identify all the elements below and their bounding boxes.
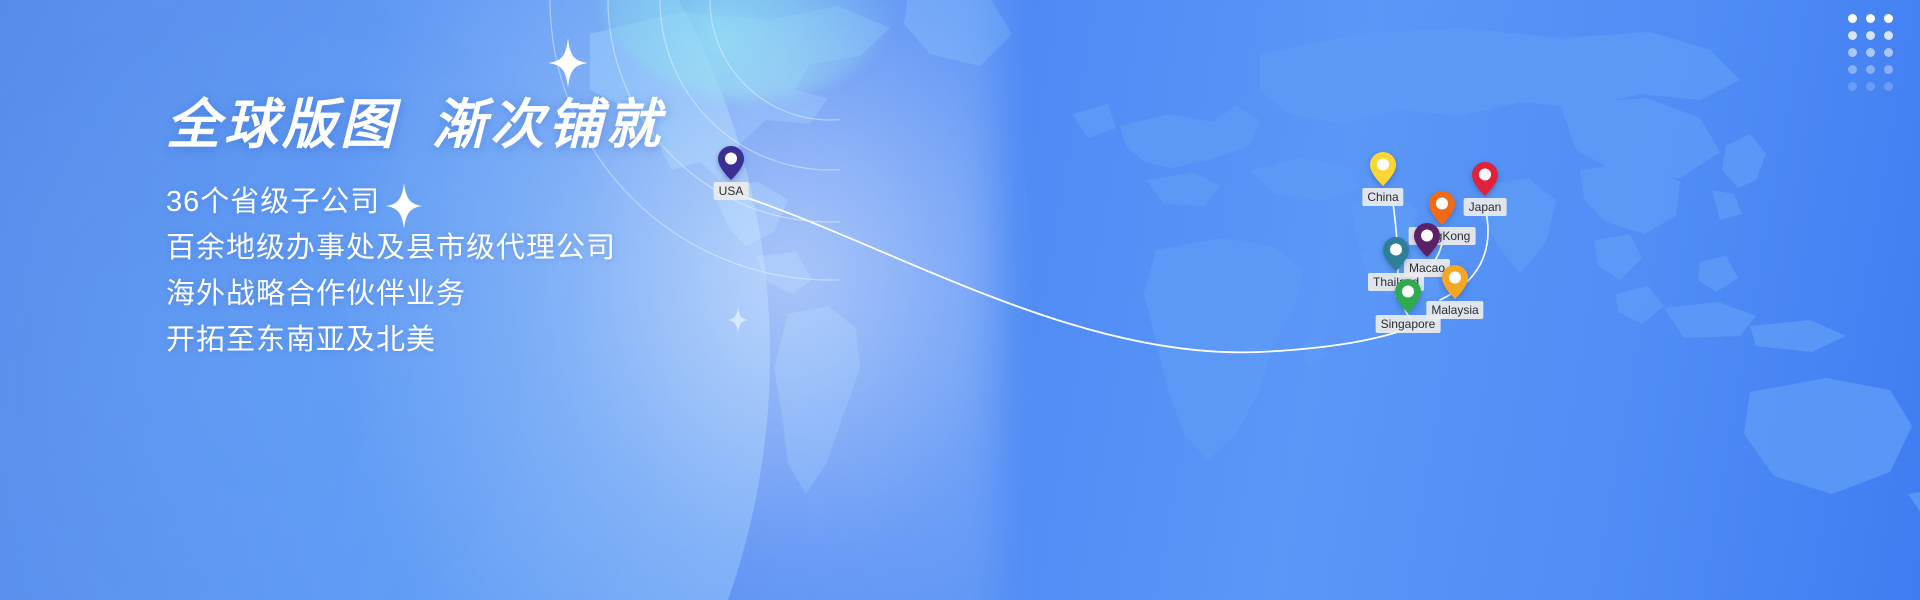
map-marker-thailand[interactable]: Thailand bbox=[1383, 237, 1409, 271]
page-title: 全球版图渐次铺就 bbox=[166, 96, 664, 155]
map-pin-icon bbox=[1395, 279, 1421, 313]
map-marker-label: Japan bbox=[1464, 198, 1507, 216]
map-pin-icon bbox=[1472, 162, 1498, 196]
subtitle-line-3: 海外战略合作伙伴业务 bbox=[166, 271, 664, 317]
map-marker-label: China bbox=[1362, 188, 1403, 206]
map-marker-japan[interactable]: Japan bbox=[1472, 162, 1498, 196]
global-map-banner: 全球版图渐次铺就 36个省级子公司 百余地级办事处及县市级代理公司 海外战略合作… bbox=[0, 0, 1920, 600]
subtitle-line-2: 百余地级办事处及县市级代理公司 bbox=[166, 225, 664, 271]
subtitle-line-1: 36个省级子公司 bbox=[166, 179, 664, 225]
title-part-1: 全球版图 bbox=[166, 95, 398, 155]
map-marker-hongkong[interactable]: HongKong bbox=[1429, 191, 1455, 225]
subtitle-line-4: 开拓至东南亚及北美 bbox=[166, 317, 664, 363]
map-marker-label: USA bbox=[714, 182, 749, 200]
map-marker-malaysia[interactable]: Malaysia bbox=[1442, 265, 1468, 299]
banner-subtitle-list: 36个省级子公司 百余地级办事处及县市级代理公司 海外战略合作伙伴业务 开拓至东… bbox=[166, 179, 664, 363]
map-marker-label: Singapore bbox=[1376, 315, 1441, 333]
map-marker-usa[interactable]: USA bbox=[718, 146, 744, 180]
map-marker-singapore[interactable]: Singapore bbox=[1395, 279, 1421, 313]
map-pin-icon bbox=[718, 146, 744, 180]
map-pin-icon bbox=[1370, 152, 1396, 186]
map-pin-icon bbox=[1414, 223, 1440, 257]
map-marker-china[interactable]: China bbox=[1370, 152, 1396, 186]
banner-copy: 全球版图渐次铺就 36个省级子公司 百余地级办事处及县市级代理公司 海外战略合作… bbox=[166, 96, 664, 363]
map-pin-icon bbox=[1442, 265, 1468, 299]
map-pin-icon bbox=[1383, 237, 1409, 271]
title-part-2: 渐次铺就 bbox=[432, 95, 664, 155]
map-pin-icon bbox=[1429, 191, 1455, 225]
map-marker-macao[interactable]: Macao bbox=[1414, 223, 1440, 257]
